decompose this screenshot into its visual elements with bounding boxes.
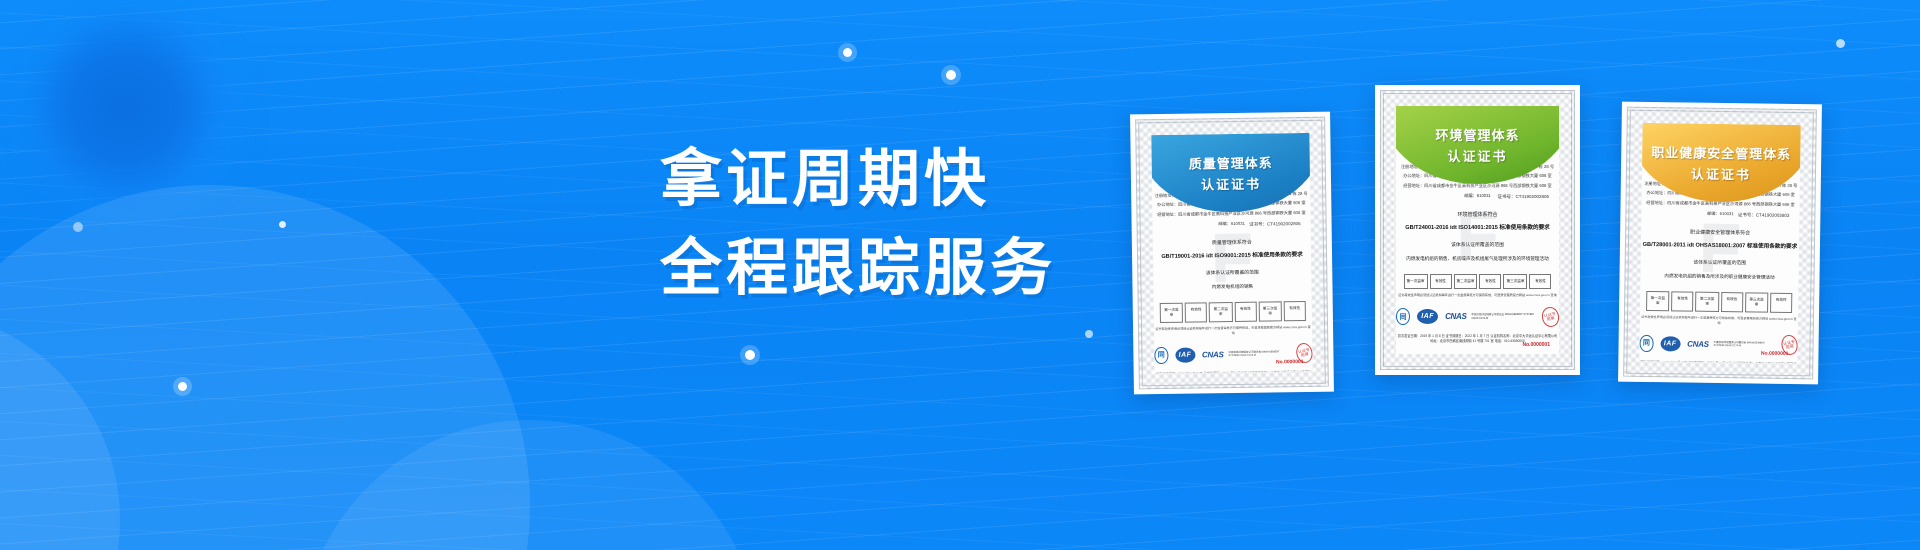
audit-cell: 第二次监审 [1454, 274, 1478, 289]
certificate-title-line2: 认证证书 [1448, 146, 1508, 165]
certificate-scope: 内燃发电机组的销售 [1153, 281, 1311, 291]
certificate-title-line1: 环境管理体系 [1436, 125, 1520, 144]
iaf-logo-icon: IAF [1660, 336, 1680, 351]
certificate-system-label: 环境管理体系符合 [1396, 211, 1559, 218]
certificate-title-line2: 认证证书 [1201, 174, 1261, 194]
certificate-body: F 职业健康安全管理体系 认证证书 证书号：CT41902002803 兹 证 … [1639, 123, 1800, 363]
audit-cell: 第一次监审 [1646, 291, 1670, 311]
certificate-border: F 质量管理体系 认证证书 证书号：CT41902002806 兹 证 明 成都… [1135, 117, 1329, 390]
certificate-scope-label: 该体系认证所覆盖的范围 [1641, 257, 1799, 266]
certificate-body: F 环境管理体系 认证证书 证书号：CT41902002805 兹 证 明 成都… [1396, 106, 1559, 354]
cnca-logo-icon: 同 [1396, 308, 1410, 325]
certificate-fine-print: 证书有效性声明必须经认证机构每年进行一次监督审核方可保持有效，可登录管理局官方网… [1396, 293, 1559, 298]
headline: 拿证周期快 全程跟踪服务 [660, 138, 1056, 310]
decor-dot-4 [73, 222, 83, 232]
certificates-group: F 职业健康安全管理体系 认证证书 证书号：CT41902002803 兹 证 … [1120, 85, 1920, 415]
red-seal-icon: 认证专用章 [1541, 305, 1559, 328]
certificate-border: F 环境管理体系 认证证书 证书号：CT41902002805 兹 证 明 成都… [1380, 90, 1575, 370]
certificate-body: F 质量管理体系 认证证书 证书号：CT41902002806 兹 证 明 成都… [1151, 133, 1312, 373]
audit-cell: 第一次监审 [1404, 274, 1428, 289]
cnca-logo-icon: 同 [1154, 347, 1168, 364]
cnas-logo-text: 中国合格评定国家认可委员会 MANAGEMENT SYSTEM CNAS C17… [1228, 350, 1289, 357]
iaf-logo-icon: IAF [1175, 347, 1195, 362]
audit-cell: 有效性 [1770, 293, 1792, 313]
certificate-title-line1: 质量管理体系 [1189, 152, 1273, 172]
certificate-address-3: 经营地址：四川省成都市金牛区高科技产业区沙河源 866 号西部钢铁大厦 606 … [1396, 183, 1559, 190]
certificate-serial: 证书号：CT41902002806 [1249, 221, 1301, 228]
cnas-logo-icon: CNAS [1445, 312, 1466, 321]
certificate-logos: 同 IAF CNAS 中国合格评定国家认可委员会 MANAGEMENT SYST… [1396, 307, 1559, 327]
certificate-scope-label: 该体系认证所覆盖的范围 [1153, 267, 1311, 276]
certificate-fine-print: 证书有效性声明必须经认证机构每年进行一次监督审核方可保持有效，可登录管理局官方网… [1640, 315, 1798, 326]
certificate-title-line1: 职业健康安全管理体系 [1651, 142, 1791, 163]
audit-cell: 有效性 [1721, 292, 1743, 312]
certificate-card[interactable]: F 环境管理体系 认证证书 证书号：CT41902002805 兹 证 明 成都… [1375, 85, 1580, 375]
hero-banner: 拿证周期快 全程跟踪服务 F 职业健康安全管理体系 认证证书 证书号：CT4 [0, 0, 1920, 550]
decor-dot-8 [1836, 39, 1845, 48]
cnas-logo-text: 中国合格评定国家认可委员会 MANAGEMENT SYSTEM CNAS C17… [1714, 341, 1775, 348]
audit-cell: 有效性 [1529, 274, 1551, 289]
certificate-scope: 内燃发电机组的销售及所涉及的职业健康安全管理活动 [1640, 271, 1798, 281]
decor-dot-1 [843, 48, 852, 57]
certificate-system-label: 职业健康安全管理体系符合 [1641, 227, 1799, 236]
decor-dot-6 [745, 350, 755, 360]
certificate-standard: GB/T19001-2016 idt ISO9001:2015 标准使用条款的要… [1153, 249, 1311, 259]
audit-cell: 第一次监审 [1160, 303, 1184, 323]
certificate-system-label: 质量管理体系符合 [1153, 237, 1311, 246]
certificate-audit-grid: 第一次监审 有效性 第二次监审 有效性 第三次监审 有效性 [1640, 291, 1798, 313]
audit-cell: 有效性 [1671, 291, 1693, 311]
headline-line-1: 拿证周期快 [660, 138, 1056, 221]
certificate-audit-grid: 第一次监审 有效性 第二次监审 有效性 第三次监审 有效性 [1396, 274, 1559, 289]
audit-cell: 第三次监审 [1503, 274, 1527, 289]
audit-cell: 第三次监审 [1745, 292, 1769, 312]
iaf-logo-icon: IAF [1417, 309, 1438, 324]
decor-dot-3 [279, 221, 286, 228]
audit-cell: 有效性 [1234, 302, 1256, 322]
certificate-footer: 初次发证日期：2019 年 1 月 8 日 证书到期日：2022 年 1 月 7… [1639, 360, 1797, 363]
certificate-scope-label: 该体系认证所覆盖的范围 [1396, 241, 1559, 248]
certificate-standard: GB/T24001-2016 idt ISO14001:2015 标准使用条款的… [1396, 223, 1559, 231]
audit-cell: 有效性 [1185, 302, 1207, 322]
certificate-serial: 证书号：CT41902002805 [1497, 194, 1549, 200]
cnas-logo-text: 中国合格评定国家认可委员会 MANAGEMENT SYSTEM CNAS C17… [1472, 313, 1536, 320]
audit-cell: 有效性 [1284, 301, 1306, 321]
certificate-border: F 职业健康安全管理体系 认证证书 证书号：CT41902002803 兹 证 … [1623, 107, 1817, 380]
certificate-number: No.0000001 [1761, 351, 1789, 357]
certificate-footer: 初次发证日期：2019 年 1 月 8 日 证书到期日：2022 年 1 月 7… [1155, 370, 1313, 373]
audit-cell: 有效性 [1430, 274, 1452, 289]
decor-dot-2 [946, 70, 956, 80]
audit-cell: 有效性 [1479, 274, 1501, 289]
cnas-logo-icon: CNAS [1687, 339, 1709, 348]
audit-cell: 第二次监审 [1695, 292, 1719, 312]
certificate-number: No.0000001 [1276, 359, 1304, 365]
headline-line-2: 全程跟踪服务 [660, 227, 1056, 310]
certificate-card[interactable]: F 质量管理体系 认证证书 证书号：CT41902002806 兹 证 明 成都… [1130, 112, 1334, 395]
certificate-standard: GB/T28001-2011 idt OHSAS18001:2007 标准使用条… [1641, 239, 1799, 249]
cnca-logo-icon: 同 [1639, 335, 1653, 352]
certificate-serial: 证书号：CT41902002803 [1738, 212, 1790, 219]
certificate-card[interactable]: F 职业健康安全管理体系 认证证书 证书号：CT41902002803 兹 证 … [1618, 102, 1822, 385]
certificate-audit-grid: 第一次监审 有效性 第二次监审 有效性 第三次监审 有效性 [1154, 301, 1312, 323]
decor-dot-7 [1085, 330, 1093, 338]
decor-dot-5 [178, 382, 187, 391]
certificate-scope: 内燃发电机组的销售、机房噪声及机组尾气处理所涉及的环境管理活动 [1396, 255, 1559, 262]
certificate-number: No.0000001 [1522, 342, 1550, 348]
certificate-fine-print: 证书有效性声明必须经认证机构每年进行一次监督审核方可保持有效，可登录管理局官方网… [1154, 325, 1312, 336]
audit-cell: 第二次监审 [1209, 302, 1233, 322]
certificate-watermark: F [1456, 195, 1499, 275]
audit-cell: 第三次监审 [1258, 301, 1282, 321]
certificate-title-line2: 认证证书 [1691, 164, 1751, 184]
cnas-logo-icon: CNAS [1202, 350, 1224, 359]
